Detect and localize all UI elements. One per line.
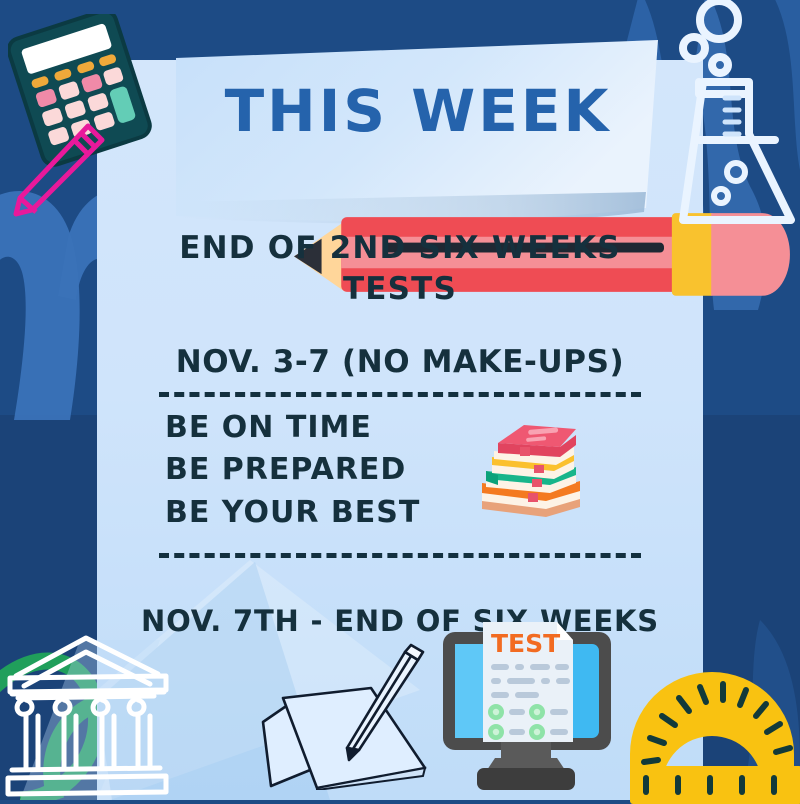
rules-list: BE ON TIME BE PREPARED BE YOUR BEST <box>165 407 420 535</box>
paper-and-pencil-icon <box>255 640 440 790</box>
erlenmeyer-flask-icon <box>663 0 800 231</box>
stacked-books-icon <box>476 421 586 521</box>
rule-item: BE YOUR BEST <box>165 492 420 535</box>
calculator-icon <box>8 14 168 229</box>
banner-ribbon: THIS WEEK <box>172 40 664 225</box>
banner-title: THIS WEEK <box>172 82 664 140</box>
greek-temple-icon <box>0 628 200 800</box>
poster-content: END OF 2ND SIX WEEKS TESTS NOV. 3-7 (NO … <box>97 228 703 638</box>
headline-text: END OF 2ND SIX WEEKS TESTS <box>97 228 703 310</box>
computer-monitor-icon: TEST <box>425 620 630 800</box>
dates-text: NOV. 3-7 (NO MAKE-UPS) <box>97 344 703 380</box>
rule-item: BE PREPARED <box>165 449 420 492</box>
monitor-test-label: TEST <box>491 629 560 658</box>
divider-bottom <box>159 553 641 558</box>
protractor-icon <box>622 636 800 804</box>
rules-row: BE ON TIME BE PREPARED BE YOUR BEST <box>97 397 703 539</box>
rule-item: BE ON TIME <box>165 407 420 450</box>
